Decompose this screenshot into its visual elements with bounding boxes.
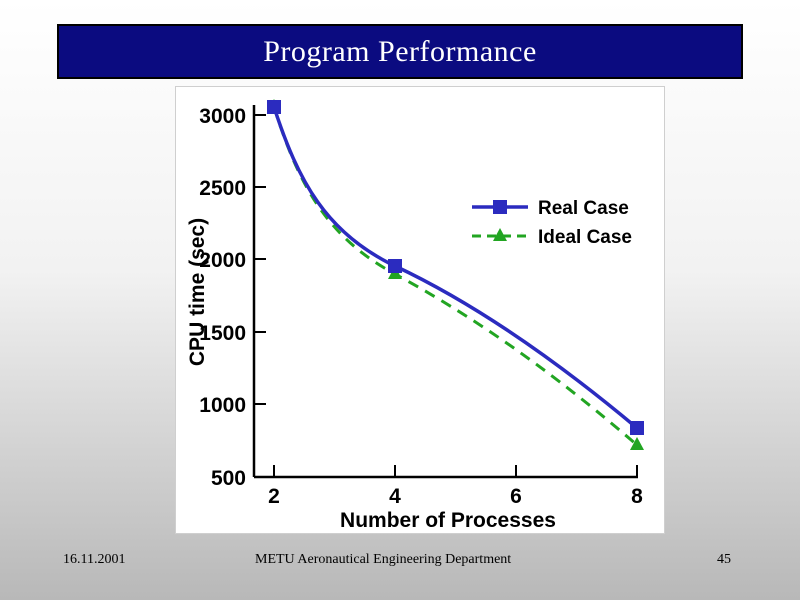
- legend-marker-real-case: [493, 200, 507, 214]
- x-tick-label: 2: [268, 485, 280, 508]
- y-tick-label: 2500: [199, 177, 246, 200]
- slide-title-bar: Program Performance: [57, 24, 743, 79]
- page-title: Program Performance: [263, 35, 537, 69]
- x-tick-label: 6: [510, 485, 522, 508]
- x-axis-ticks: [274, 465, 637, 477]
- performance-line-chart: 3000 2500 2000 1500 1000 500 2 4 6 8: [176, 87, 664, 533]
- series-ideal-case-markers: [267, 99, 644, 450]
- legend-label-ideal-case: Ideal Case: [538, 227, 632, 248]
- x-tick-label: 8: [631, 485, 643, 508]
- chart-legend: Real Case Ideal Case: [472, 198, 632, 248]
- x-tick-label: 4: [389, 485, 401, 508]
- y-tick-label: 3000: [199, 105, 246, 128]
- series-ideal-case-line: [274, 107, 637, 445]
- y-axis-ticks: [254, 115, 266, 477]
- footer-organization: METU Aeronautical Engineering Department: [255, 552, 511, 568]
- chart-panel: 3000 2500 2000 1500 1000 500 2 4 6 8: [175, 86, 665, 534]
- legend-label-real-case: Real Case: [538, 198, 629, 219]
- footer-page-number: 45: [717, 552, 731, 568]
- x-axis-label: Number of Processes: [340, 509, 556, 532]
- y-tick-label: 500: [211, 467, 246, 490]
- slide: Program Performance 3000 2500 2000: [0, 0, 800, 600]
- series-real-case-line: [274, 107, 637, 428]
- footer-date: 16.11.2001: [63, 552, 125, 568]
- x-axis-tick-labels: 2 4 6 8: [268, 485, 643, 508]
- y-tick-label: 1000: [199, 394, 246, 417]
- y-axis-label: CPU time (sec): [186, 218, 209, 366]
- series-real-case-markers: [267, 100, 644, 435]
